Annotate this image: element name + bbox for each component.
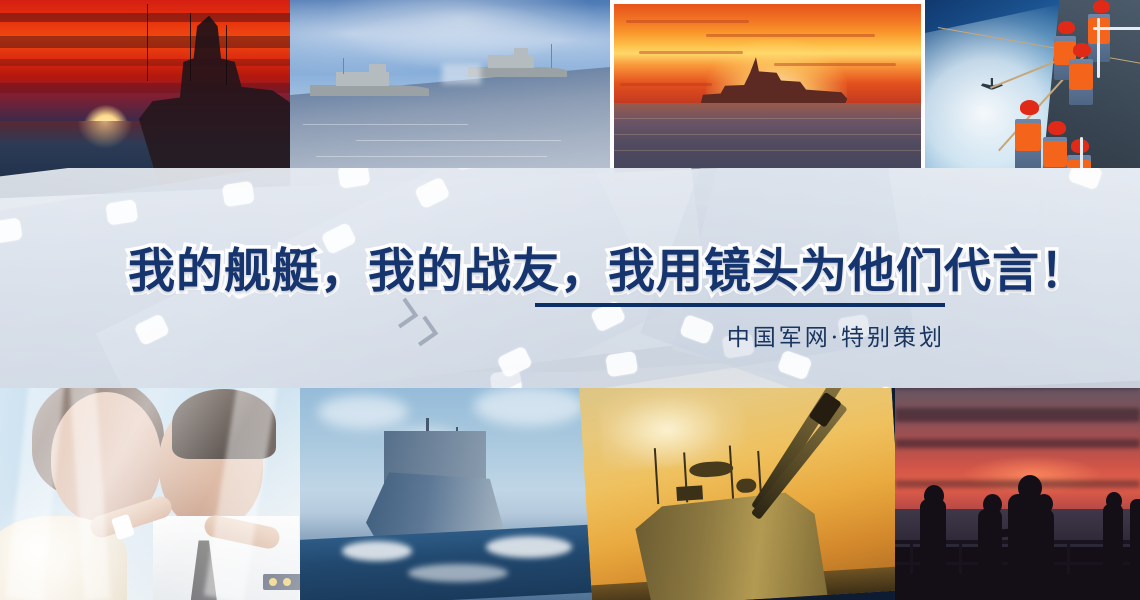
- sprocket-hole: [134, 313, 171, 346]
- sprocket-hole: [0, 218, 23, 244]
- title-divider: [535, 303, 945, 307]
- sprocket-hole: [1067, 168, 1103, 190]
- photo-naval-gun-turret: [578, 353, 904, 600]
- sailor-silhouette: [1032, 509, 1054, 600]
- photo-navy-wedding-couple: [0, 352, 318, 600]
- subtitle: 中国军网·特别策划: [535, 318, 945, 352]
- sprocket-hole: [222, 181, 255, 207]
- photo-sailors-silhouette-sunset: [895, 360, 1140, 600]
- sprocket-hole: [414, 176, 451, 209]
- sprocket-hole: [105, 199, 138, 225]
- sprocket-hole: [777, 350, 813, 381]
- photo-warship-bow-on: [300, 372, 600, 600]
- warship-hull-left: [310, 85, 429, 96]
- sun-glint: [77, 121, 133, 149]
- sprocket-hole: [338, 168, 371, 189]
- special-feature-banner: 我的舰艇，我的战友，我用镜头为他们代言！ 中国军网·特别策划: [0, 0, 1140, 600]
- sprocket-hole: [605, 351, 638, 377]
- page-title: 我的舰艇，我的战友，我用镜头为他们代言！: [128, 232, 1088, 301]
- sailor-silhouette: [920, 499, 946, 600]
- sprocket-hole: [496, 345, 533, 378]
- sailor-silhouette: [1130, 499, 1140, 600]
- sailor-silhouette: [1103, 504, 1123, 600]
- warship-hull-right: [468, 67, 567, 77]
- sailor-silhouette: [978, 509, 1002, 600]
- sprocket-hole: [875, 385, 911, 388]
